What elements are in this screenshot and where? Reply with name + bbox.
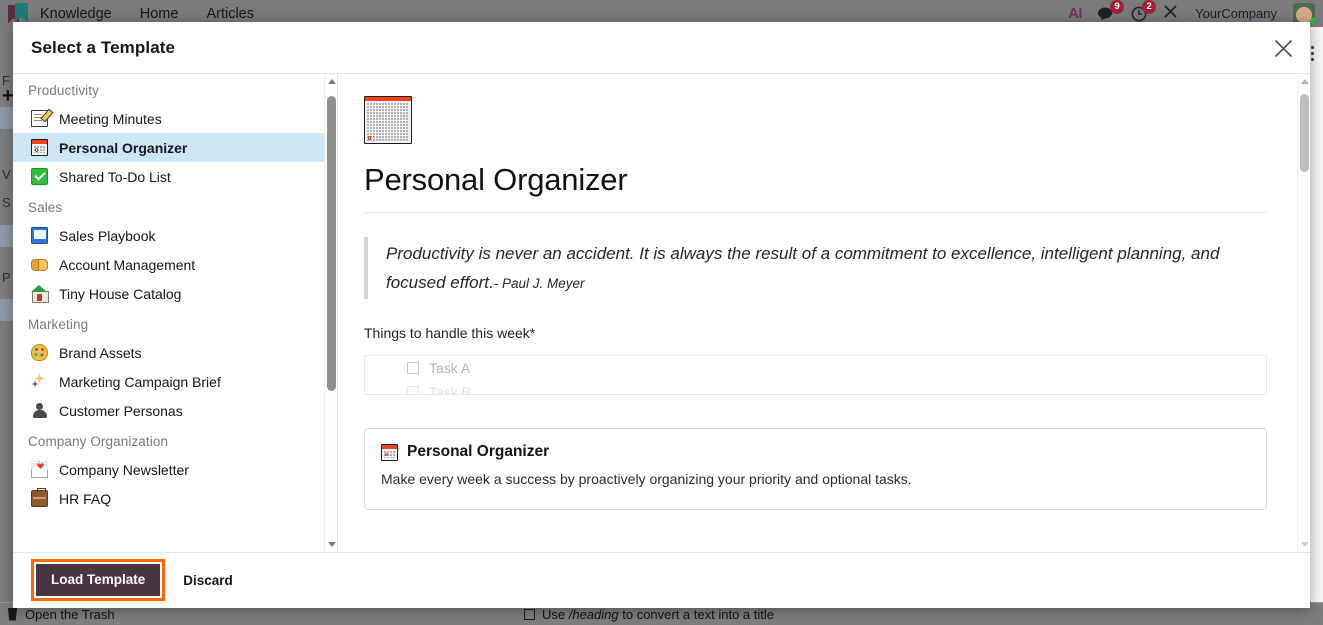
preview-title: Personal Organizer — [364, 162, 1267, 213]
preview-scroll-down-icon[interactable] — [1298, 537, 1310, 552]
memo-icon — [31, 110, 48, 127]
clock-icon[interactable]: 2 — [1131, 6, 1147, 22]
house-with-garden-icon — [31, 285, 48, 302]
sidebar-scroll-down-icon[interactable] — [325, 537, 338, 552]
template-list: ProductivityMeeting MinutesPersonal Orga… — [13, 74, 324, 513]
card-title: Personal Organizer — [407, 443, 549, 461]
discard-button[interactable]: Discard — [183, 573, 233, 588]
calendar-icon — [31, 139, 48, 156]
love-letter-icon — [31, 461, 48, 478]
template-group-header: Productivity — [13, 74, 324, 104]
nav-item-articles[interactable]: Articles — [206, 6, 254, 22]
template-list-item[interactable]: HR FAQ — [13, 484, 324, 513]
hint-text: Use /heading to convert a text into a ti… — [542, 607, 774, 622]
template-item-label: Account Management — [59, 257, 195, 273]
load-template-button[interactable]: Load Template — [36, 564, 160, 597]
sidebar-scrollbar[interactable] — [324, 74, 337, 552]
quote-block: Productivity is never an accident. It is… — [364, 237, 1267, 299]
template-item-label: Brand Assets — [59, 345, 142, 361]
template-list-item[interactable]: Brand Assets — [13, 338, 324, 367]
template-item-label: Customer Personas — [59, 403, 183, 419]
tools-icon[interactable] — [1163, 4, 1179, 23]
artist-palette-icon — [31, 344, 48, 361]
bust-in-silhouette-icon — [31, 402, 48, 419]
sidebar-scroll-up-icon[interactable] — [325, 74, 338, 89]
overflow-menu-icon[interactable] — [1311, 46, 1317, 64]
template-sidebar: ProductivityMeeting MinutesPersonal Orga… — [13, 74, 338, 552]
rail-letter-f: F — [2, 73, 10, 88]
task-label: Task A — [429, 360, 470, 376]
nav-item-home[interactable]: Home — [140, 6, 179, 22]
check-mark-icon — [31, 168, 48, 185]
template-list-item[interactable]: Meeting Minutes — [13, 104, 324, 133]
load-template-highlight: Load Template — [31, 559, 165, 602]
rail-letter-p: P — [2, 270, 11, 285]
template-item-label: Personal Organizer — [59, 140, 187, 156]
template-item-label: Sales Playbook — [59, 228, 156, 244]
trash-icon — [7, 608, 18, 621]
task-row: Task B — [365, 380, 1266, 395]
template-list-item[interactable]: Customer Personas — [13, 396, 324, 425]
template-group-header: Sales — [13, 191, 324, 221]
rail-letter-s: S — [2, 195, 11, 210]
template-item-label: HR FAQ — [59, 491, 111, 507]
modal-body: ProductivityMeeting MinutesPersonal Orga… — [13, 74, 1310, 552]
quote-author: - Paul J. Meyer — [494, 276, 585, 291]
template-preview: Personal Organizer Productivity is never… — [338, 74, 1310, 552]
template-list-item[interactable]: Company Newsletter — [13, 455, 324, 484]
rail-letter-v: V — [2, 167, 11, 182]
card-header: Personal Organizer — [381, 443, 1250, 461]
calendar-icon — [381, 444, 398, 461]
template-list-item[interactable]: Shared To-Do List — [13, 162, 324, 191]
chat-icon[interactable]: 9 — [1098, 6, 1115, 21]
sparkles-icon — [31, 373, 48, 390]
select-template-modal: Select a Template ProductivityMeeting Mi… — [13, 22, 1310, 608]
editor-hint: Use /heading to convert a text into a ti… — [262, 607, 774, 622]
add-icon[interactable]: + — [2, 85, 14, 108]
task-label: Task B — [429, 384, 471, 395]
chat-badge: 9 — [1110, 0, 1124, 14]
section-label: Things to handle this week* — [364, 325, 1267, 341]
handshake-icon — [31, 256, 48, 273]
template-list-item[interactable]: Tiny House Catalog — [13, 279, 324, 308]
preview-scroll-up-icon[interactable] — [1298, 74, 1310, 89]
template-list-item[interactable]: Personal Organizer — [13, 133, 324, 162]
template-item-label: Company Newsletter — [59, 462, 189, 478]
page-title: Select a Template — [13, 38, 175, 58]
nav-brand[interactable]: Knowledge — [40, 6, 112, 22]
sidebar-scroll-thumb[interactable] — [327, 96, 336, 391]
card-description: Make every week a success by proactively… — [381, 471, 1250, 487]
template-item-label: Tiny House Catalog — [59, 286, 181, 302]
modal-footer: Load Template Discard — [13, 552, 1310, 607]
template-list-item[interactable]: Marketing Campaign Brief — [13, 367, 324, 396]
briefcase-icon — [31, 490, 48, 507]
template-group-header: Company Organization — [13, 425, 324, 455]
open-the-trash-label: Open the Trash — [25, 607, 115, 622]
preview-scroll-thumb[interactable] — [1300, 94, 1309, 172]
hint-checkbox[interactable] — [524, 609, 535, 620]
open-the-trash-link[interactable]: Open the Trash — [0, 607, 262, 622]
task-row: Task A — [365, 356, 1266, 380]
task-checkbox[interactable] — [407, 386, 419, 395]
modal-header: Select a Template — [13, 22, 1310, 74]
template-item-label: Shared To-Do List — [59, 169, 171, 185]
company-name[interactable]: YourCompany — [1195, 6, 1277, 21]
blue-book-icon — [31, 227, 48, 244]
app-nav: Knowledge Home Articles — [40, 6, 254, 22]
template-list-item[interactable]: Sales Playbook — [13, 221, 324, 250]
clock-badge: 2 — [1142, 0, 1156, 14]
close-icon[interactable] — [1268, 33, 1298, 63]
calendar-icon — [364, 96, 412, 144]
template-summary-card: Personal Organizer Make every week a suc… — [364, 428, 1267, 510]
template-item-label: Meeting Minutes — [59, 111, 162, 127]
ai-icon[interactable]: AI — [1068, 5, 1082, 22]
task-table: Task ATask B — [364, 355, 1267, 395]
preview-scrollbar[interactable] — [1297, 74, 1310, 552]
template-list-item[interactable]: Account Management — [13, 250, 324, 279]
task-checkbox[interactable] — [407, 362, 419, 374]
template-item-label: Marketing Campaign Brief — [59, 374, 221, 390]
template-group-header: Marketing — [13, 308, 324, 338]
